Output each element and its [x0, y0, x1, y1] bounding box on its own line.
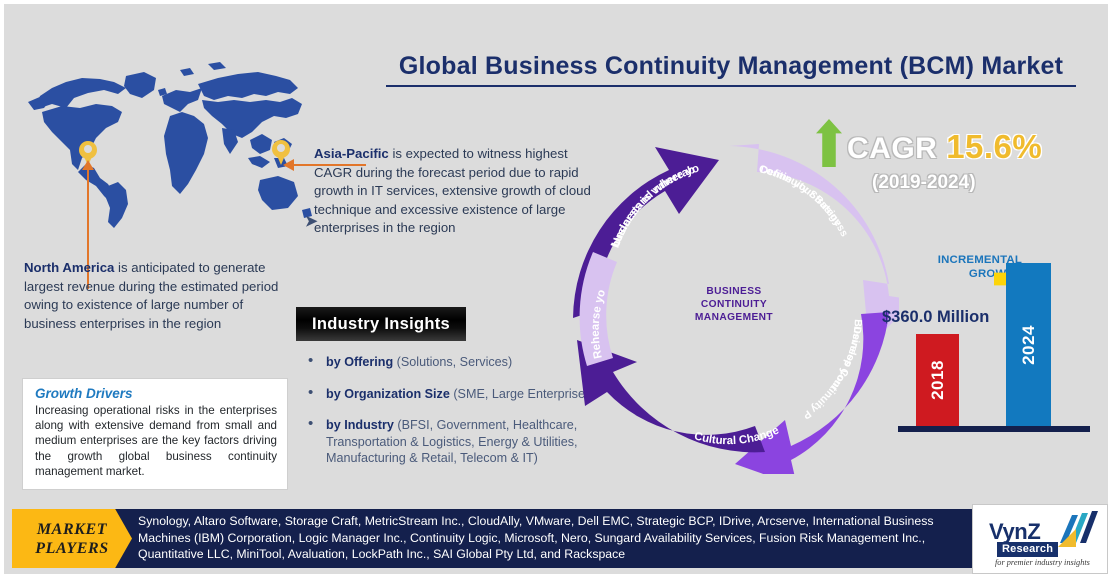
north-america-lead: North America	[24, 260, 114, 275]
industry-insights-list: by Offering (Solutions, Services) by Org…	[304, 354, 604, 482]
industry-insights-badge: Industry Insights	[296, 307, 466, 341]
growth-drivers-title: Growth Drivers	[35, 386, 277, 401]
market-players-text: Synology, Altaro Software, Storage Craft…	[138, 513, 966, 563]
north-america-callout: North America is anticipated to generate…	[24, 259, 292, 333]
logo-subtitle: Research	[997, 542, 1058, 557]
growth-drivers-card: Growth Drivers Increasing operational ri…	[22, 378, 288, 490]
market-players-tag: MARKET PLAYERS	[12, 509, 132, 568]
asia-pacific-callout: Asia-Pacific is expected to witness high…	[314, 145, 604, 238]
cagr-headline: CAGR 15.6%	[847, 128, 1042, 166]
insight-lead: by Industry	[326, 418, 394, 432]
industry-insights-title: Industry Insights	[312, 315, 450, 334]
cagr-period: (2019-2024)	[872, 172, 976, 194]
market-players-tag-line-1: MARKET	[37, 520, 107, 539]
page-title: Global Business Continuity Management (B…	[386, 52, 1076, 87]
bar-2024: 2024	[1006, 263, 1051, 426]
logo-arrow-mark-icon	[1054, 509, 1098, 549]
world-map	[22, 46, 322, 236]
cagr-label: CAGR	[847, 132, 937, 165]
asia-pacific-lead: Asia-Pacific	[314, 146, 389, 161]
chevron-right-icon: ➤	[305, 212, 318, 230]
bar-2018: 2018	[916, 334, 959, 426]
chart-baseline	[898, 426, 1090, 432]
insight-detail: (Solutions, Services)	[393, 355, 512, 369]
cagr-value: 15.6%	[946, 128, 1042, 165]
list-item: by Organization Size (SME, Large Enterpr…	[304, 386, 604, 403]
list-item: by Offering (Solutions, Services)	[304, 354, 604, 371]
list-item: by Industry (BFSI, Government, Healthcar…	[304, 417, 604, 467]
incremental-growth-chart: INCREMENTAL GROWTH $360.0 Million 2018 2…	[884, 249, 1104, 434]
infographic-page: Global Business Continuity Management (B…	[0, 0, 1112, 578]
logo-tagline: for premier industry insights	[995, 558, 1090, 567]
insight-lead: by Offering	[326, 355, 393, 369]
bcm-cycle-diagram: Understand where your business is vulner…	[569, 134, 899, 474]
map-pin-asia-pacific	[272, 140, 290, 166]
bar-label-2024: 2024	[1018, 325, 1038, 365]
insight-lead: by Organization Size	[326, 387, 450, 401]
growth-drivers-body: Increasing operational risks in the ente…	[35, 403, 277, 479]
cycle-diagram-svg: Understand where your business is vulner…	[569, 134, 899, 474]
map-pin-tip	[276, 153, 286, 165]
market-players-tag-line-2: PLAYERS	[35, 539, 109, 558]
bar-label-2018: 2018	[927, 360, 947, 400]
vynz-research-logo: VynZ Research for premier industry insig…	[972, 504, 1108, 574]
